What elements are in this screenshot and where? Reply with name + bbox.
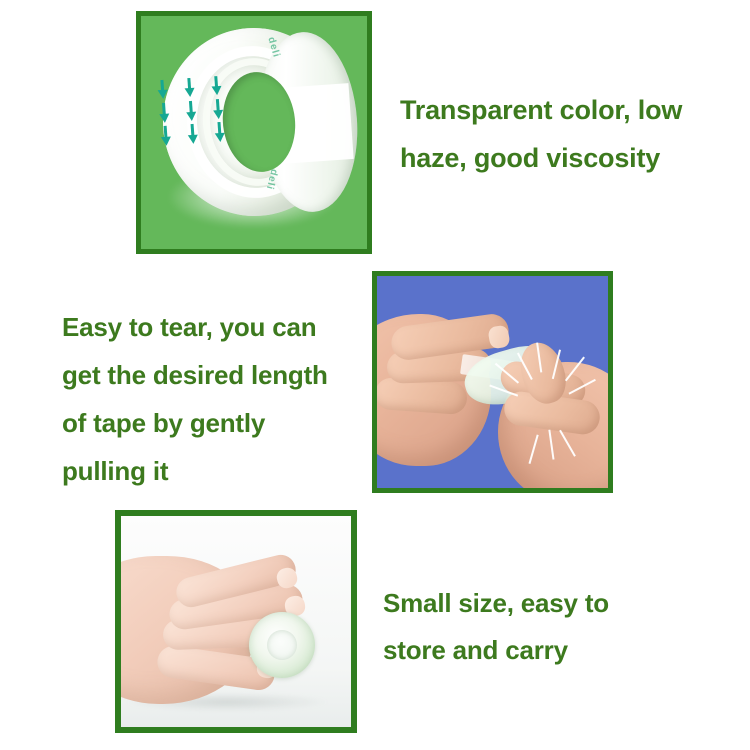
feature-text-line: haze, good viscosity — [400, 134, 682, 182]
feature-text-easy-to-tear: Easy to tear, you can get the desired le… — [62, 303, 328, 495]
feature-text-line: get the desired length — [62, 351, 328, 399]
feature-text-small-size: Small size, easy to store and carry — [383, 580, 609, 674]
down-arrow-icon — [179, 120, 207, 145]
feature-text-line: store and carry — [383, 627, 609, 674]
down-arrow-icon — [177, 96, 205, 121]
tearing-tape-photo-frame: deli — [372, 271, 613, 493]
down-arrow-icon — [150, 98, 178, 123]
product-infographic: deli deli Transparent color, low haze, g… — [0, 0, 750, 750]
tape-roll-photo-frame: deli deli — [136, 11, 372, 254]
tape-arrow-pattern — [149, 71, 234, 146]
feature-text-line: of tape by gently — [62, 399, 328, 447]
tear-burst-effect — [497, 332, 593, 420]
down-arrow-icon — [149, 75, 177, 100]
down-arrow-icon — [202, 71, 230, 96]
tearing-tape-photo: deli — [377, 276, 608, 488]
feature-text-line: Easy to tear, you can — [62, 303, 328, 351]
feature-text-line: Small size, easy to — [383, 580, 609, 627]
small-tape-roll — [249, 612, 315, 678]
hand-holding-roll-photo — [121, 516, 351, 727]
down-arrow-icon — [152, 122, 180, 147]
feature-text-line: Transparent color, low — [400, 86, 682, 134]
hand-holding-roll-photo-frame — [115, 510, 357, 733]
down-arrow-icon — [175, 73, 203, 98]
tape-roll-photo: deli deli — [141, 16, 367, 249]
feature-text-transparent: Transparent color, low haze, good viscos… — [400, 86, 682, 182]
feature-text-line: pulling it — [62, 447, 328, 495]
